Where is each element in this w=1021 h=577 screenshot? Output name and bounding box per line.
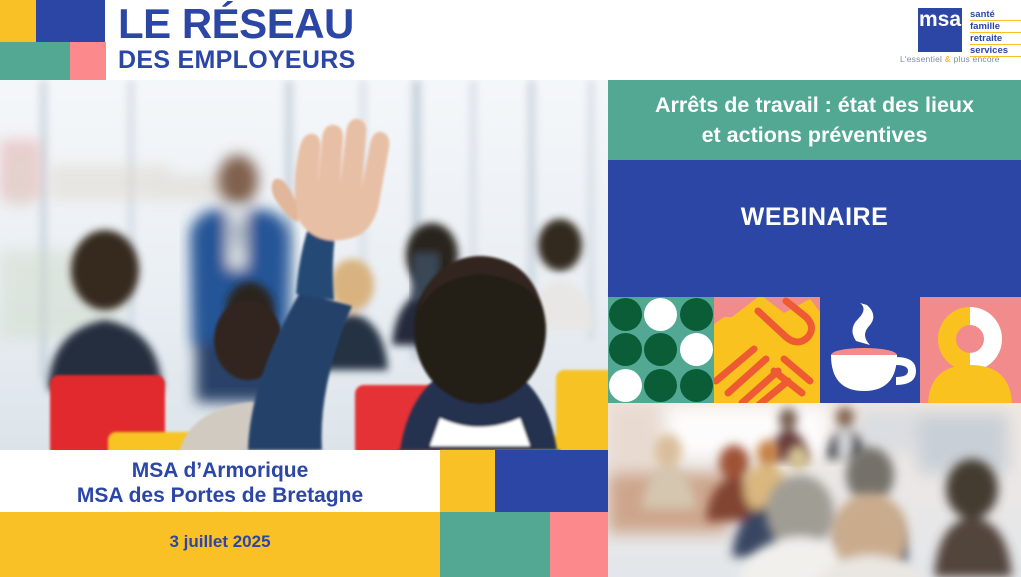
msa-logo: msa santé famille retraite services L'es… <box>898 6 1016 68</box>
right-panel: Arrêts de travail : état des lieux et ac… <box>608 80 1021 577</box>
event-date: 3 juillet 2025 <box>0 532 440 552</box>
dot-1 <box>609 298 642 331</box>
coffee-cup-graphic <box>820 297 920 403</box>
footer-block-yellow-top <box>440 450 495 512</box>
dot-4 <box>609 333 642 366</box>
header-block-green <box>0 42 70 80</box>
webinar-title-block: Arrêts de travail : état des lieux et ac… <box>608 80 1021 160</box>
webinar-title-line-2: et actions préventives <box>617 120 1012 150</box>
dot-9 <box>680 369 713 402</box>
msa-logo-row: msa santé famille retraite services <box>918 8 1021 57</box>
dot-grid-icon <box>608 297 714 403</box>
handshake-icon <box>714 297 820 403</box>
dot-grid <box>608 297 714 403</box>
person-avatar-icon <box>920 297 1021 403</box>
organisation-band: MSA d’Armorique MSA des Portes de Bretag… <box>0 450 440 512</box>
msa-word-list: santé famille retraite services <box>970 8 1021 57</box>
msa-mark-icon: msa <box>918 8 962 52</box>
coffee-cup-icon <box>820 297 920 403</box>
dot-7 <box>609 369 642 402</box>
footer-block-blue-top <box>495 450 608 512</box>
dot-5 <box>644 333 677 366</box>
footer-block-green-bottom <box>440 512 550 577</box>
msa-word-retraite: retraite <box>970 33 1021 45</box>
header-bar: LE RÉSEAU DES EMPLOYEURS msa santé famil… <box>0 0 1021 80</box>
conference-audience-graphic <box>608 403 1021 577</box>
footer-block-pink-bottom <box>550 512 608 577</box>
webinar-title-line-1: Arrêts de travail : état des lieux <box>617 90 1012 120</box>
date-band: 3 juillet 2025 <box>0 512 440 577</box>
header-block-blue <box>36 0 105 42</box>
webinar-label-block: WEBINAIRE <box>608 160 1021 297</box>
main-audience-photo-graphic <box>0 80 608 450</box>
msa-tagline: L'essentiel & plus encore <box>898 54 1018 64</box>
msa-word-sante: santé <box>970 9 1021 21</box>
webinar-title-text: Arrêts de travail : état des lieux et ac… <box>617 90 1012 150</box>
dot-3 <box>680 298 713 331</box>
header-block-yellow <box>0 0 36 42</box>
msa-tagline-before: L'essentiel <box>900 54 945 64</box>
msa-word-famille: famille <box>970 21 1021 33</box>
icon-strip <box>608 297 1021 403</box>
brand-line-2: DES EMPLOYEURS <box>118 46 478 74</box>
header-block-pink <box>70 42 106 80</box>
organisation-line-1: MSA d’Armorique <box>0 458 440 483</box>
dot-2 <box>644 298 677 331</box>
conference-audience-photo <box>608 403 1021 577</box>
dot-8 <box>644 369 677 402</box>
handshake-graphic <box>714 297 820 403</box>
brand-line-1: LE RÉSEAU <box>118 2 478 46</box>
brand-logo: LE RÉSEAU DES EMPLOYEURS <box>118 2 478 80</box>
msa-tagline-after: plus encore <box>951 54 1000 64</box>
msa-mark-text: msa <box>918 8 962 52</box>
organisation-line-2: MSA des Portes de Bretagne <box>0 483 440 508</box>
webinar-label: WEBINAIRE <box>608 160 1021 232</box>
person-avatar-graphic <box>920 297 1021 403</box>
main-audience-photo <box>0 80 608 450</box>
webinar-title-slide: LE RÉSEAU DES EMPLOYEURS msa santé famil… <box>0 0 1021 577</box>
dot-6 <box>680 333 713 366</box>
